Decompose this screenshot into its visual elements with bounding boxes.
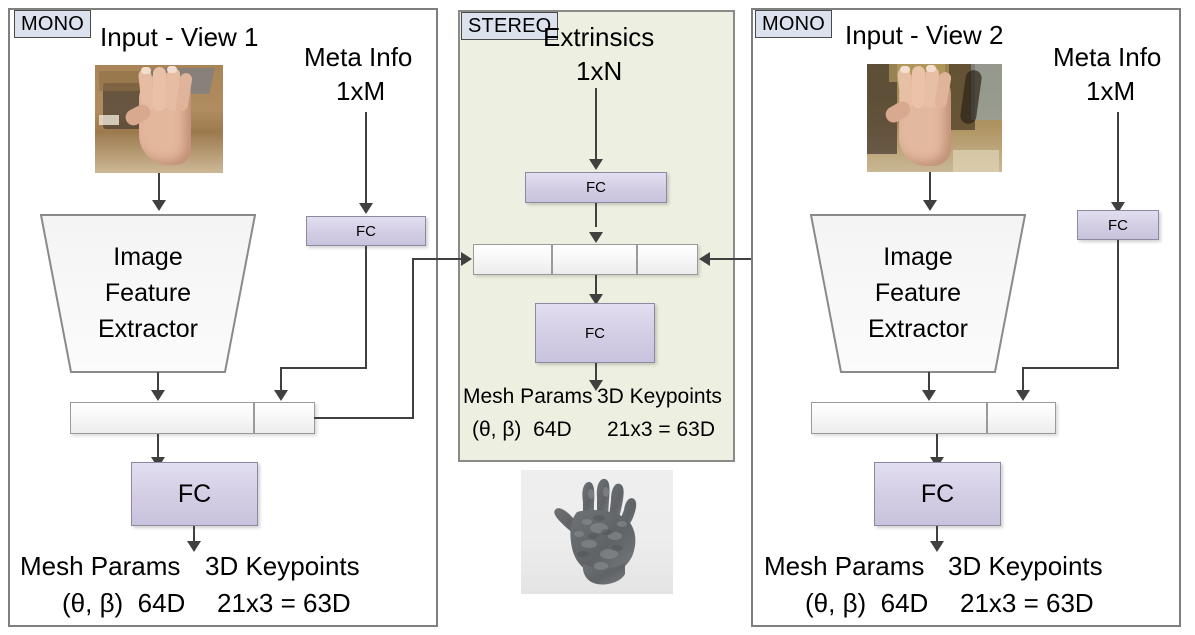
right-meta-info-dims: 1xM	[1086, 76, 1135, 106]
connector-left-to-stereo-top	[412, 258, 462, 260]
extrinsics-dims: 1xN	[576, 56, 622, 86]
connector-metafc-left-left	[280, 367, 367, 369]
stereo-output-mesh-params-label: Mesh Params	[463, 385, 593, 409]
left-output-mesh-params-dims: (θ, β) 64D	[62, 588, 185, 618]
concat-bar-left	[70, 402, 315, 434]
connector-topfc-to-concat-stereo	[595, 203, 597, 227]
main-fc-box-right[interactable]: FC	[874, 462, 1001, 526]
stereo-top-fc-box[interactable]: FC	[525, 172, 667, 203]
main-fc-box-left[interactable]: FC	[131, 462, 258, 526]
arrowhead-extrinsics-to-fc	[589, 159, 603, 170]
connector-extractor-to-concat-left	[157, 372, 159, 392]
arrowhead-right-into-stereo	[699, 252, 710, 266]
right-meta-info-label: Meta Info	[1053, 42, 1161, 72]
connector-metafc-down-left	[365, 246, 367, 368]
concat-bar-right	[811, 402, 1056, 434]
panel-tag-mono-left: MONO	[14, 10, 91, 38]
figure-canvas: MONO Input - View 1 Meta Info 1xM FC	[0, 0, 1195, 635]
stereo-output-mesh-params-dims: (θ, β) 64D	[472, 418, 572, 442]
hand-mesh-3d-render	[521, 470, 673, 594]
connector-left-to-stereo-vert	[412, 258, 414, 418]
connector-photo-to-extractor-left	[158, 173, 160, 203]
concat-bar-stereo	[473, 244, 698, 275]
left-output-mesh-params-label: Mesh Params	[20, 551, 180, 581]
extractor-label-line1-left: Image	[38, 242, 258, 273]
stereo-output-keypoints-dims: 21x3 = 63D	[607, 418, 715, 442]
extractor-label-line1-right: Image	[808, 242, 1028, 273]
right-output-keypoints-label: 3D Keypoints	[948, 551, 1103, 581]
extractor-label-line3-right: Extractor	[808, 314, 1028, 345]
right-output-mesh-params-dims: (θ, β) 64D	[805, 588, 928, 618]
connector-extrinsics-to-fc	[595, 88, 597, 161]
left-input-title: Input - View 1	[100, 22, 259, 52]
right-output-keypoints-dims: 21x3 = 63D	[960, 588, 1094, 618]
connector-meta-to-fc-right	[1117, 112, 1119, 204]
arrowhead-photo-to-extractor-left	[152, 200, 166, 211]
arrowhead-metafc-to-concat-right	[1016, 390, 1030, 401]
connector-photo-to-extractor-right	[929, 172, 931, 203]
image-feature-extractor-right: Image Feature Extractor	[808, 212, 1028, 375]
hand-photo-view-1	[95, 65, 223, 173]
image-feature-extractor-left: Image Feature Extractor	[38, 212, 258, 375]
stereo-output-keypoints-label: 3D Keypoints	[597, 385, 722, 409]
arrowhead-metafc-to-concat-left	[274, 390, 288, 401]
meta-fc-box-right[interactable]: FC	[1077, 210, 1159, 240]
extrinsics-label: Extrinsics	[543, 22, 654, 52]
concat-bar-divider-right	[986, 403, 988, 433]
arrowhead-meta-to-fc-left	[359, 203, 373, 214]
stereo-mid-fc-box[interactable]: FC	[535, 303, 655, 363]
connector-metafc-down-right	[1117, 240, 1119, 368]
left-output-keypoints-dims: 21x3 = 63D	[217, 588, 351, 618]
extractor-label-line2-left: Feature	[38, 278, 258, 309]
panel-tag-mono-right: MONO	[755, 10, 832, 38]
concat-bar-divider-stereo-2	[636, 245, 638, 274]
concat-bar-divider-stereo-1	[551, 245, 553, 274]
arrowhead-extractor-to-concat-left	[151, 390, 165, 401]
arrowhead-left-into-stereo	[461, 252, 472, 266]
concat-bar-divider-left	[253, 403, 255, 433]
connector-metafc-into-concat-right	[1022, 367, 1024, 392]
connector-extractor-to-concat-right	[928, 372, 930, 392]
left-meta-info-dims: 1xM	[336, 76, 385, 106]
connector-left-to-stereo-bottom	[314, 417, 414, 419]
left-output-keypoints-label: 3D Keypoints	[205, 551, 360, 581]
connector-metafc-into-concat-left	[280, 367, 282, 392]
arrowhead-topfc-to-concat-stereo	[589, 232, 603, 243]
meta-fc-box-left[interactable]: FC	[306, 216, 426, 246]
connector-metafc-left-right	[1022, 367, 1119, 369]
arrowhead-extractor-to-concat-right	[922, 390, 936, 401]
extractor-label-line2-right: Feature	[808, 278, 1028, 309]
right-output-mesh-params-label: Mesh Params	[764, 551, 924, 581]
arrowhead-fc-to-output-left	[187, 541, 201, 552]
left-meta-info-label: Meta Info	[304, 42, 412, 72]
connector-meta-to-fc-left	[365, 112, 367, 205]
arrowhead-photo-to-extractor-right	[923, 200, 937, 211]
extractor-label-line3-left: Extractor	[38, 314, 258, 345]
hand-photo-view-2	[867, 64, 1002, 172]
right-input-title: Input - View 2	[845, 20, 1004, 50]
arrowhead-fc-to-output-right	[930, 541, 944, 552]
